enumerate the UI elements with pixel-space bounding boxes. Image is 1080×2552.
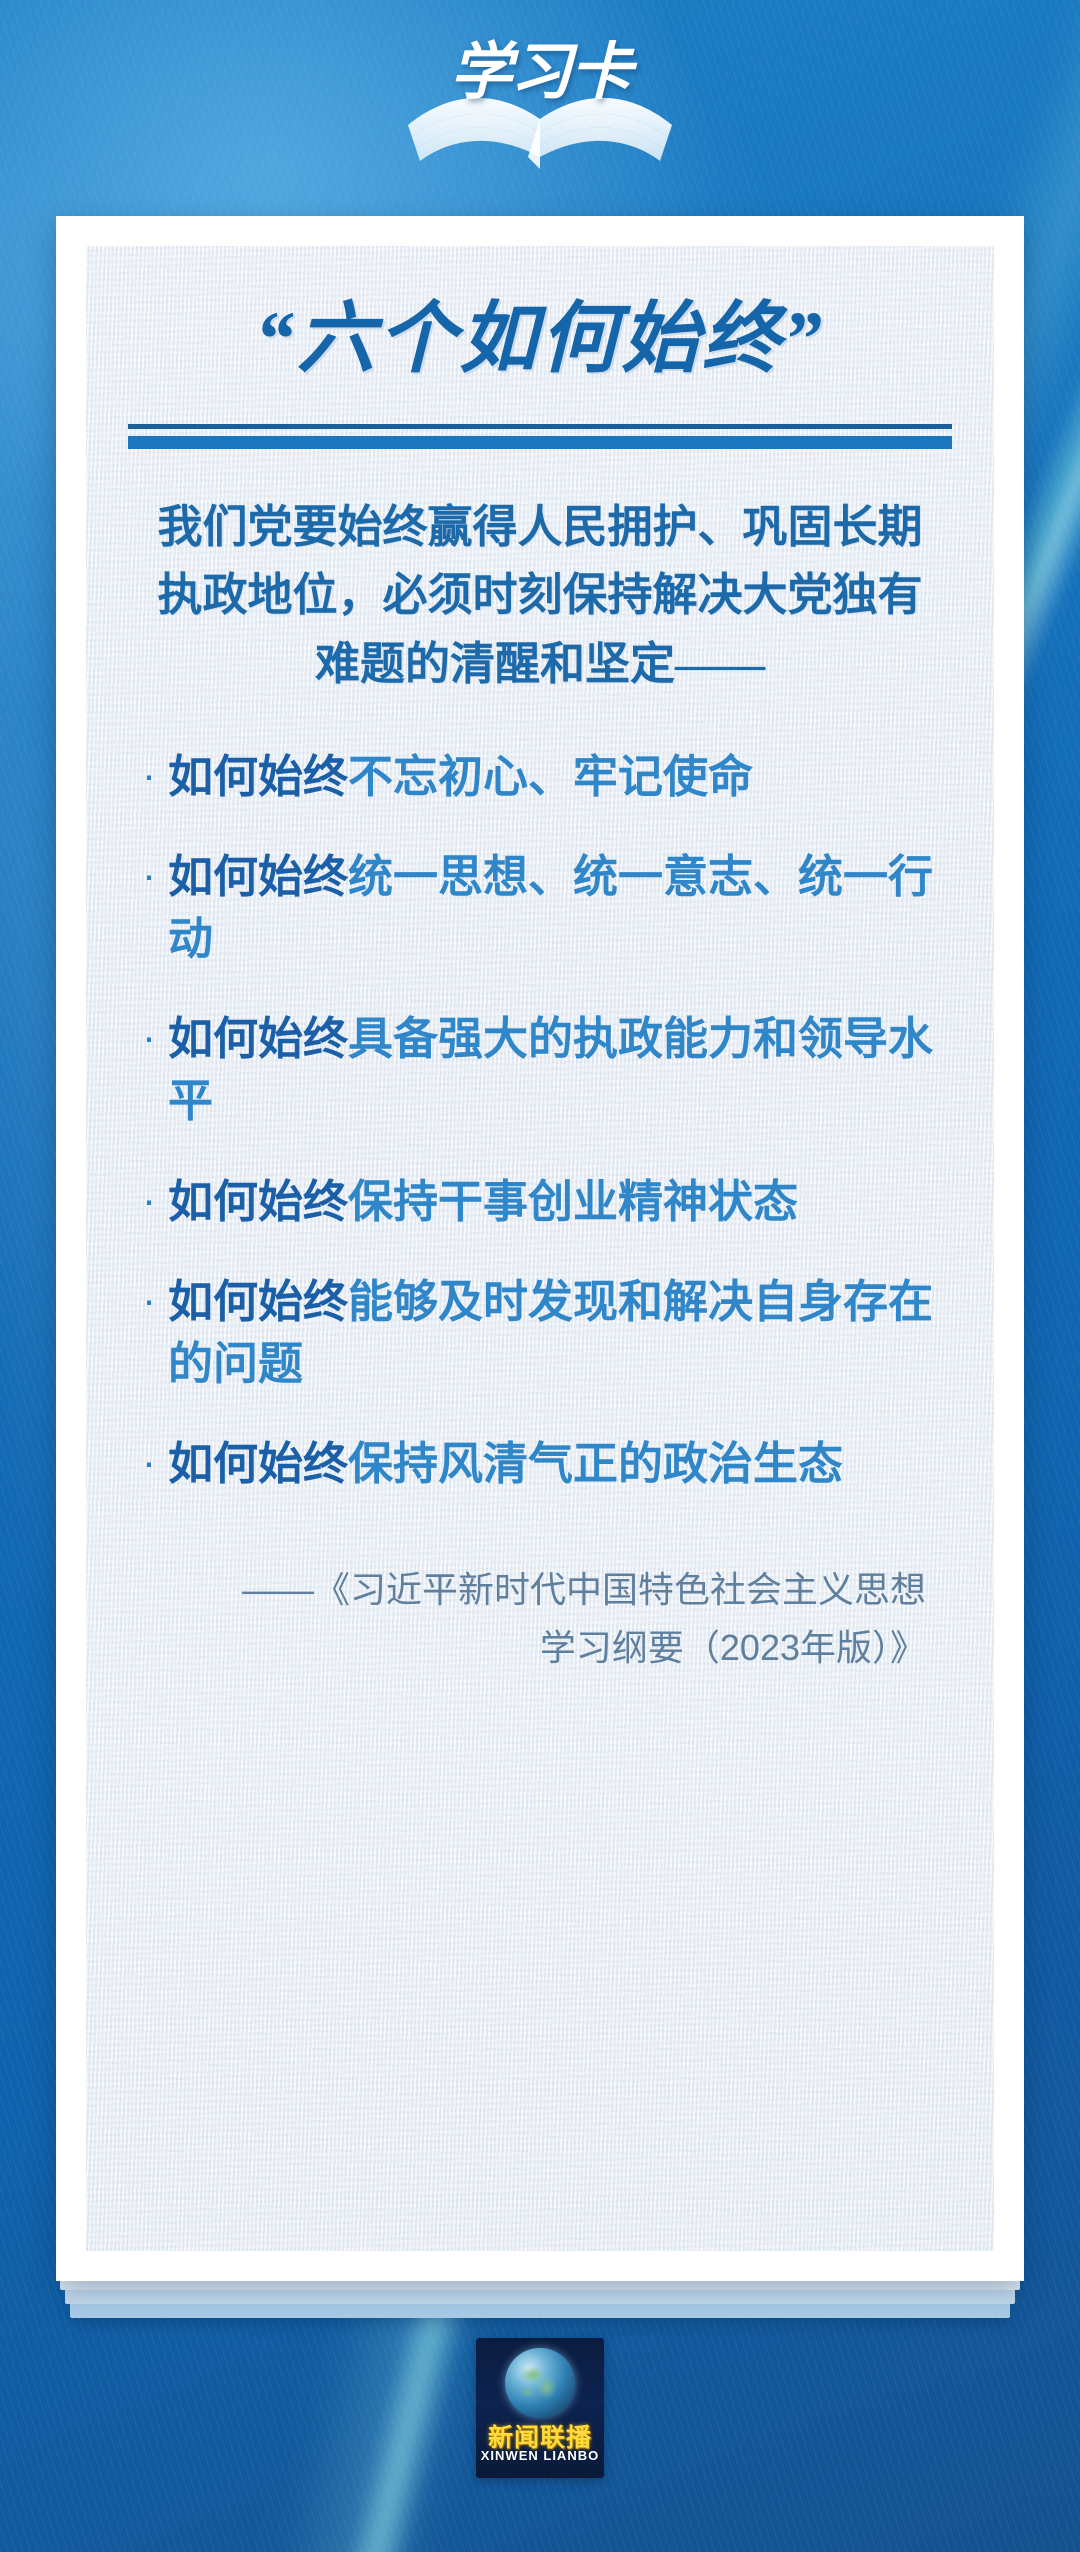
card-intro-paragraph: 我们党要始终赢得人民拥护、巩固长期执政地位，必须时刻保持解决大党独有难题的清醒和…: [128, 493, 952, 698]
divider-rule-thick: [128, 436, 952, 449]
list-item-lead: 如何始终: [168, 751, 348, 802]
bullet-dot-icon: ·: [142, 846, 168, 904]
list-item-text: 如何始终具备强大的执政能力和领导水平: [168, 1008, 948, 1132]
broadcaster-name-en: XINWEN LIANBO: [476, 2448, 604, 2463]
list-item-lead: 如何始终: [168, 1438, 348, 1489]
poster-root: 学习卡 “六个如何始终” 我们党要始终赢得人民拥护、巩固长期执政地位，必须时刻保…: [0, 0, 1080, 2552]
brand-logo-text: 学习卡: [390, 21, 690, 111]
source-citation: ——《习近平新时代中国特色社会主义思想 学习纲要（2023年版）》: [128, 1561, 952, 1678]
source-citation-line-2: 学习纲要（2023年版）》: [128, 1619, 926, 1677]
bullet-dot-icon: ·: [142, 746, 168, 804]
list-item: · 如何始终具备强大的执政能力和领导水平: [142, 1008, 948, 1132]
list-item-text: 如何始终保持干事创业精神状态: [168, 1171, 948, 1233]
list-item-lead: 如何始终: [168, 851, 348, 902]
list-item-lead: 如何始终: [168, 1013, 348, 1064]
list-item: · 如何始终统一思想、统一意志、统一行动: [142, 846, 948, 970]
list-item-lead: 如何始终: [168, 1276, 348, 1327]
divider-rule-thin: [128, 424, 952, 429]
list-item: · 如何始终保持风清气正的政治生态: [142, 1433, 948, 1495]
list-item-text: 如何始终能够及时发现和解决自身存在的问题: [168, 1271, 948, 1395]
list-item-rest: 保持干事创业精神状态: [348, 1176, 798, 1227]
title-divider: [128, 424, 952, 449]
list-item: · 如何始终保持干事创业精神状态: [142, 1171, 948, 1233]
card-title: “六个如何始终”: [128, 246, 952, 380]
broadcaster-badge: 新闻联播 XINWEN LIANBO: [476, 2338, 604, 2478]
list-item-text: 如何始终保持风清气正的政治生态: [168, 1433, 948, 1495]
bullet-dot-icon: ·: [142, 1433, 168, 1491]
list-item: · 如何始终不忘初心、牢记使命: [142, 746, 948, 808]
content-card-stack: “六个如何始终” 我们党要始终赢得人民拥护、巩固长期执政地位，必须时刻保持解决大…: [56, 216, 1024, 2281]
card-paper: “六个如何始终” 我们党要始终赢得人民拥护、巩固长期执政地位，必须时刻保持解决大…: [86, 246, 994, 2251]
list-item-lead: 如何始终: [168, 1176, 348, 1227]
list-item-rest: 不忘初心、牢记使命: [348, 751, 753, 802]
brand-logo: 学习卡: [0, 14, 1080, 194]
source-citation-line-1: ——《习近平新时代中国特色社会主义思想: [128, 1561, 926, 1619]
bullet-dot-icon: ·: [142, 1008, 168, 1066]
list-item: · 如何始终能够及时发现和解决自身存在的问题: [142, 1271, 948, 1395]
globe-icon: [505, 2348, 575, 2418]
bullet-dot-icon: ·: [142, 1171, 168, 1229]
list-item-rest: 保持风清气正的政治生态: [348, 1438, 843, 1489]
list-item-text: 如何始终统一思想、统一意志、统一行动: [168, 846, 948, 970]
bullet-dot-icon: ·: [142, 1271, 168, 1329]
list-item-text: 如何始终不忘初心、牢记使命: [168, 746, 948, 808]
bullet-list: · 如何始终不忘初心、牢记使命 · 如何始终统一思想、统一意志、统一行动 · 如…: [128, 746, 952, 1495]
content-card: “六个如何始终” 我们党要始终赢得人民拥护、巩固长期执政地位，必须时刻保持解决大…: [56, 216, 1024, 2281]
